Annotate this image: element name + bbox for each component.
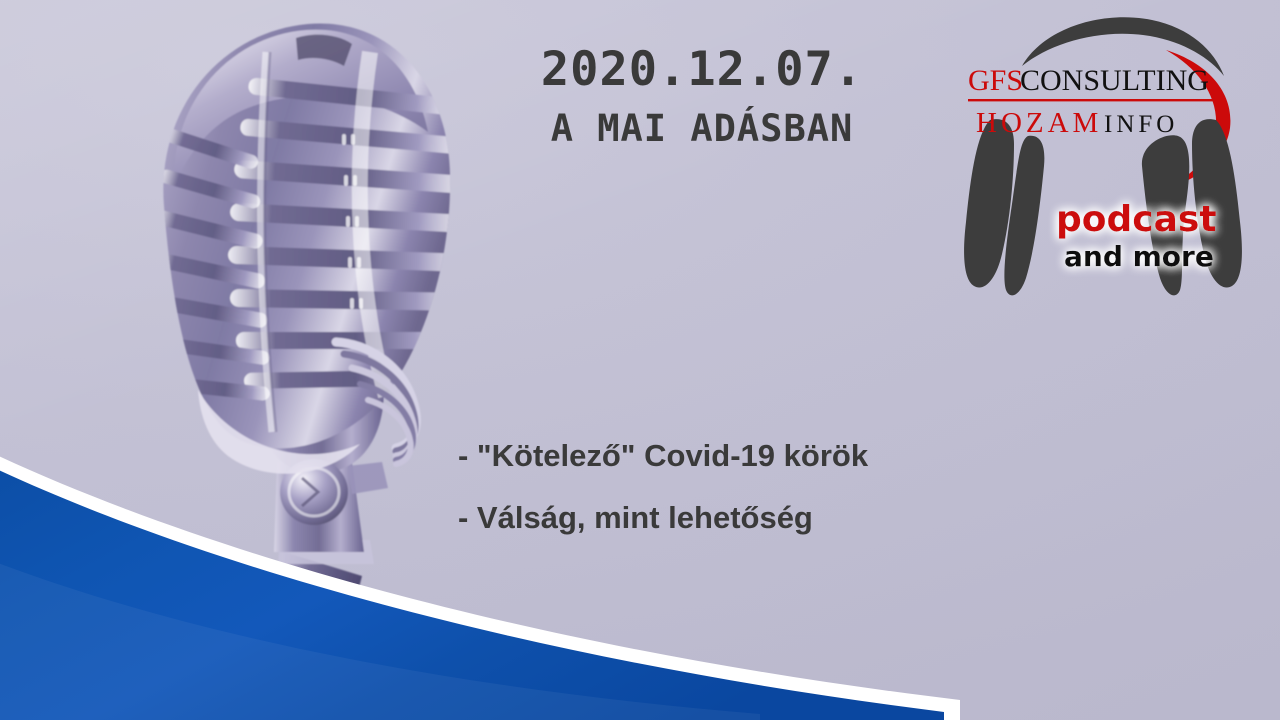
podcast-episode-slide: 2020.12.07. A MAI ADÁSBAN - "Kötelező" C… bbox=[0, 0, 1280, 720]
brand-divider bbox=[968, 99, 1216, 101]
tagline-podcast: podcast bbox=[1056, 199, 1217, 240]
topic-list: - "Kötelező" Covid-19 körök - Válság, mi… bbox=[458, 440, 1098, 564]
tagline-and-more: and more bbox=[1064, 240, 1214, 273]
brand-logo: GFS CONSULTING HOZAM INFO podcast and mo… bbox=[952, 8, 1252, 308]
episode-subtitle: A MAI ADÁSBAN bbox=[452, 109, 952, 150]
brand-gfs: GFS bbox=[968, 64, 1023, 97]
episode-date: 2020.12.07. bbox=[452, 46, 952, 95]
brand-info: INFO bbox=[1104, 111, 1178, 138]
brand-consulting: CONSULTING bbox=[1020, 64, 1209, 97]
headline-block: 2020.12.07. A MAI ADÁSBAN bbox=[452, 46, 952, 150]
topic-item: - Válság, mint lehetőség bbox=[458, 502, 1098, 533]
topic-item: - "Kötelező" Covid-19 körök bbox=[458, 440, 1098, 471]
brand-hozam: HOZAM bbox=[976, 107, 1102, 139]
